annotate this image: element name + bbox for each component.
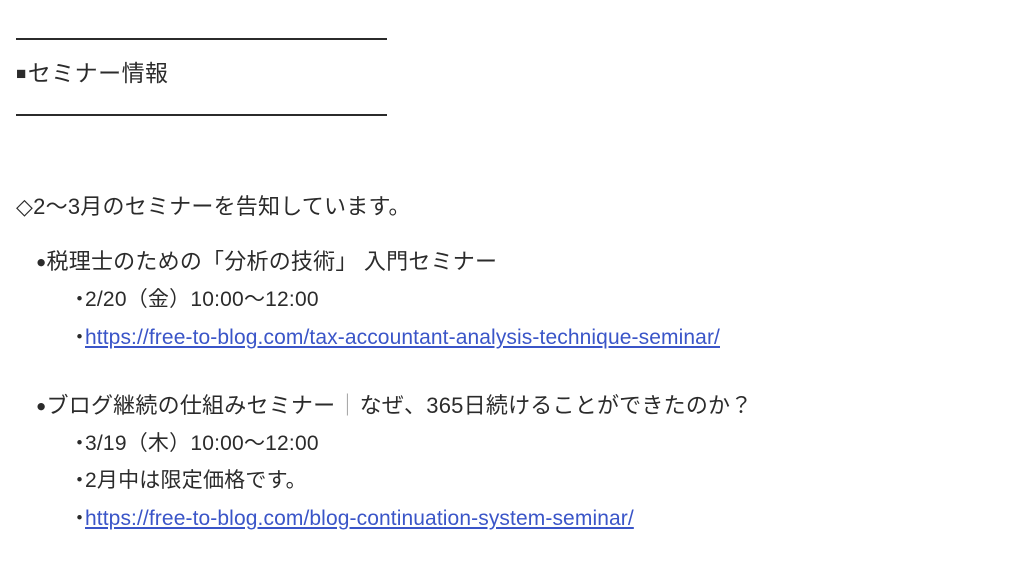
seminar-title-label: ブログ継続の仕組みセミナー	[47, 393, 336, 418]
heading-rule-bottom	[16, 114, 387, 116]
middle-dot-icon: ・	[69, 281, 85, 318]
seminar-title: ●税理士のための「分析の技術」 入門セミナー	[36, 244, 720, 281]
section-heading-label: セミナー情報	[28, 60, 169, 86]
lead-paragraph: ◇2〜3月のセミナーを告知しています。	[16, 190, 411, 224]
circle-bullet-icon: ●	[36, 253, 47, 272]
seminar-title-label: 税理士のための「分析の技術」 入門セミナー	[47, 249, 498, 274]
middle-dot-icon: ・	[69, 425, 85, 462]
seminar-link[interactable]: https://free-to-blog.com/tax-accountant-…	[85, 326, 720, 349]
list-item: ・https://free-to-blog.com/blog-continuat…	[69, 499, 753, 539]
square-bullet-icon: ■	[16, 64, 27, 83]
list-item: ・https://free-to-blog.com/tax-accountant…	[69, 318, 720, 358]
middle-dot-icon: ・	[69, 462, 85, 499]
section-heading: ■セミナー情報	[16, 56, 169, 91]
seminar-group: ●税理士のための「分析の技術」 入門セミナー ・2/20（金）10:00〜12:…	[36, 244, 720, 358]
middle-dot-icon: ・	[69, 499, 85, 539]
list-item: ・2/20（金）10:00〜12:00	[69, 281, 720, 318]
circle-bullet-icon: ●	[36, 397, 47, 416]
seminar-subtitle-label: なぜ、365日続けることができたのか？	[360, 393, 753, 418]
title-separator: ｜	[335, 393, 359, 418]
seminar-link[interactable]: https://free-to-blog.com/blog-continuati…	[85, 507, 634, 530]
document-page: ■セミナー情報 ◇2〜3月のセミナーを告知しています。 ●税理士のための「分析の…	[0, 0, 1024, 572]
seminar-datetime: 3/19（木）10:00〜12:00	[85, 432, 319, 455]
seminar-detail-list: ・3/19（木）10:00〜12:00 ・2月中は限定価格です。 ・https:…	[36, 425, 753, 539]
heading-rule-top	[16, 38, 387, 40]
seminar-title: ●ブログ継続の仕組みセミナー｜なぜ、365日続けることができたのか？	[36, 388, 753, 425]
list-item: ・2月中は限定価格です。	[69, 462, 753, 499]
seminar-price-note: 2月中は限定価格です。	[85, 469, 307, 492]
seminar-detail-list: ・2/20（金）10:00〜12:00 ・https://free-to-blo…	[36, 281, 720, 358]
seminar-datetime: 2/20（金）10:00〜12:00	[85, 288, 319, 311]
list-item: ・3/19（木）10:00〜12:00	[69, 425, 753, 462]
seminar-group: ●ブログ継続の仕組みセミナー｜なぜ、365日続けることができたのか？ ・3/19…	[36, 388, 753, 539]
middle-dot-icon: ・	[69, 318, 85, 358]
